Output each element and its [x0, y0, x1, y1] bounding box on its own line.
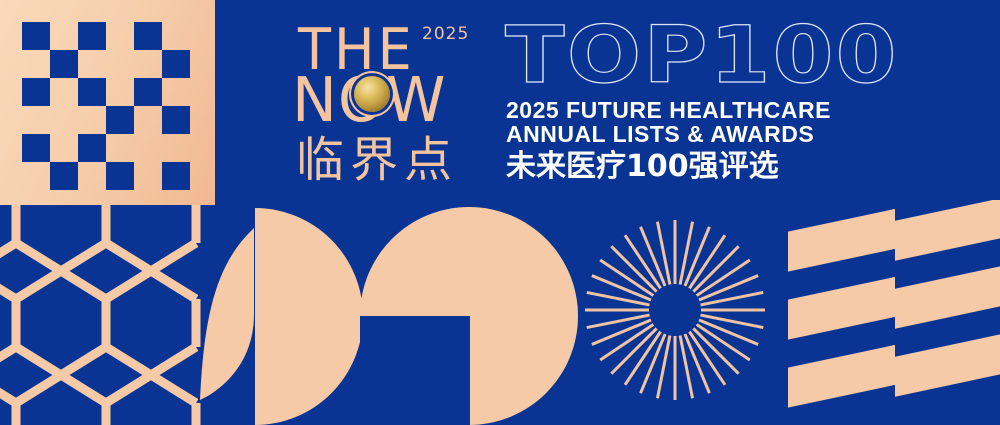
half-disk-shape	[255, 208, 363, 425]
slanted-stripe	[788, 340, 895, 414]
checker-cell	[162, 106, 190, 134]
checker-cell	[134, 78, 162, 106]
headline-line-2: ANNUAL LISTS & AWARDS	[506, 122, 976, 146]
checker-cell	[106, 106, 134, 134]
notched-circle-shape	[360, 207, 578, 425]
checker-cell	[50, 50, 78, 78]
top100-outline-title: TOP100	[505, 17, 899, 95]
slanted-stripes-left	[788, 205, 895, 425]
slanted-stripe	[895, 327, 1000, 401]
checker-cell	[22, 22, 50, 50]
notched-circle-notch	[360, 316, 470, 425]
checker-cell	[22, 134, 50, 162]
checker-cell	[50, 162, 78, 190]
sunburst-shape	[585, 220, 765, 400]
hexagon-lattice-pattern	[0, 205, 212, 425]
checker-cell	[22, 78, 50, 106]
logo-chinese-linjiedian: 临界点	[296, 136, 458, 184]
headline-block: 2025 FUTURE HEALTHCARE ANNUAL LISTS & AW…	[506, 98, 976, 185]
leaf-lens-svg	[198, 228, 254, 400]
gold-sphere-icon	[354, 76, 390, 112]
checker-cell	[78, 78, 106, 106]
logo-now-wrapper: NOW	[292, 70, 484, 130]
leaf-lens-shape	[198, 228, 254, 400]
checkerboard-pattern	[0, 0, 215, 205]
sunburst-svg	[585, 220, 765, 400]
banner-root: THE 2025 NOW 临界点 TOP100 2025 FUTURE HEAL…	[0, 0, 1000, 425]
the-now-logo: THE 2025 NOW 临界点	[292, 18, 484, 188]
slanted-stripe	[895, 259, 1000, 333]
slanted-stripes-right	[895, 200, 1000, 425]
headline-line-chinese: 未来医疗100强评选	[506, 149, 976, 185]
logo-year-2025: 2025	[422, 24, 469, 44]
slanted-stripe	[788, 205, 895, 278]
checker-cell	[162, 162, 190, 190]
checker-cell	[162, 50, 190, 78]
checker-cell	[78, 134, 106, 162]
headline-line-1: 2025 FUTURE HEALTHCARE	[506, 98, 976, 122]
slanted-stripe	[895, 200, 1000, 265]
checker-cell	[134, 22, 162, 50]
checker-cell	[78, 22, 106, 50]
slanted-stripe	[788, 272, 895, 346]
hexagon-lattice-svg	[0, 205, 212, 425]
checker-cell	[106, 162, 134, 190]
